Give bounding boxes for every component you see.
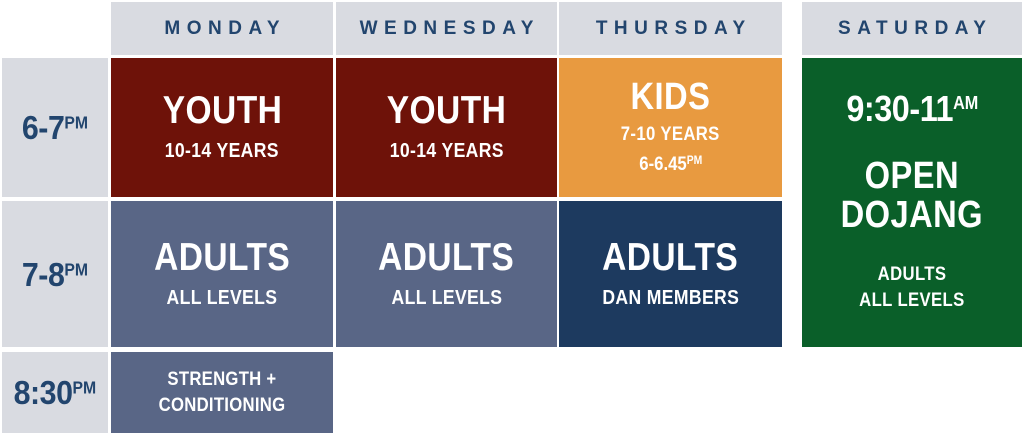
class-cell-thursday-adults[interactable]: ADULTS DAN MEMBERS xyxy=(559,201,782,347)
saturday-title-line1: OPEN xyxy=(865,157,959,196)
saturday-subtitle-line1: ADULTS xyxy=(878,263,947,288)
class-cell-thursday-kids[interactable]: KIDS 7-10 YEARS 6-6.45PM xyxy=(559,58,782,197)
time-label-6-7pm: 6-7PM xyxy=(2,58,108,197)
saturday-time-value: 9:30-11 xyxy=(846,88,953,129)
class-subtitle: 10-14 YEARS xyxy=(389,139,503,164)
day-header-thursday-label: THURSDAY xyxy=(589,18,751,40)
class-title: KIDS xyxy=(631,78,711,116)
class-title: ADULTS xyxy=(154,238,290,277)
meridiem-label: AM xyxy=(953,93,978,113)
class-cell-monday-strength[interactable]: STRENGTH + CONDITIONING xyxy=(111,352,333,433)
class-cell-monday-adults[interactable]: ADULTS ALL LEVELS xyxy=(111,201,333,347)
meridiem-label: PM xyxy=(64,259,88,279)
time-label-6-7pm-text: 6-7PM xyxy=(22,111,88,144)
meridiem-label: PM xyxy=(73,377,97,397)
day-header-thursday: THURSDAY xyxy=(559,2,782,55)
time-label-7-8pm-text: 7-8PM xyxy=(22,258,88,291)
class-cell-monday-youth[interactable]: YOUTH 10-14 YEARS xyxy=(111,58,333,197)
class-schedule-grid: MONDAY WEDNESDAY THURSDAY SATURDAY 6-7PM… xyxy=(0,0,1024,438)
time-value: 7-8 xyxy=(22,256,65,293)
time-value: 6-7 xyxy=(22,109,65,146)
time-value: 8:30 xyxy=(14,374,73,411)
class-title: ADULTS xyxy=(378,238,514,277)
class-time-value: 6-6.45 xyxy=(639,154,686,175)
class-title: ADULTS xyxy=(602,238,738,277)
day-header-wednesday-label: WEDNESDAY xyxy=(353,18,540,40)
day-header-saturday: SATURDAY xyxy=(802,2,1022,55)
class-title-line2: CONDITIONING xyxy=(159,393,286,418)
day-header-monday: MONDAY xyxy=(111,2,333,55)
meridiem-label: PM xyxy=(64,112,88,132)
class-cell-saturday-open-dojang[interactable]: 9:30-11AM OPEN DOJANG ADULTS ALL LEVELS xyxy=(802,58,1022,347)
time-label-830pm-text: 8:30PM xyxy=(14,376,97,409)
day-header-saturday-label: SATURDAY xyxy=(832,18,993,40)
time-label-7-8pm: 7-8PM xyxy=(2,201,108,347)
class-subtitle: ALL LEVELS xyxy=(167,286,278,311)
meridiem-label: PM xyxy=(686,154,702,167)
class-title: YOUTH xyxy=(162,91,282,130)
class-title-line1: STRENGTH + xyxy=(167,367,276,392)
saturday-subtitle-line2: ALL LEVELS xyxy=(859,289,964,314)
saturday-time: 9:30-11AM xyxy=(846,91,978,127)
saturday-title-line2: DOJANG xyxy=(841,196,983,235)
class-subtitle: 7-10 YEARS xyxy=(621,123,720,147)
class-time: 6-6.45PM xyxy=(639,154,702,177)
class-subtitle: 10-14 YEARS xyxy=(165,139,279,164)
day-header-wednesday: WEDNESDAY xyxy=(336,2,557,55)
class-subtitle: DAN MEMBERS xyxy=(602,286,739,311)
time-label-830pm: 8:30PM xyxy=(2,352,108,433)
class-title: YOUTH xyxy=(387,91,507,130)
day-header-monday-label: MONDAY xyxy=(158,18,286,40)
class-subtitle: ALL LEVELS xyxy=(391,286,502,311)
class-cell-wednesday-youth[interactable]: YOUTH 10-14 YEARS xyxy=(336,58,557,197)
class-cell-wednesday-adults[interactable]: ADULTS ALL LEVELS xyxy=(336,201,557,347)
